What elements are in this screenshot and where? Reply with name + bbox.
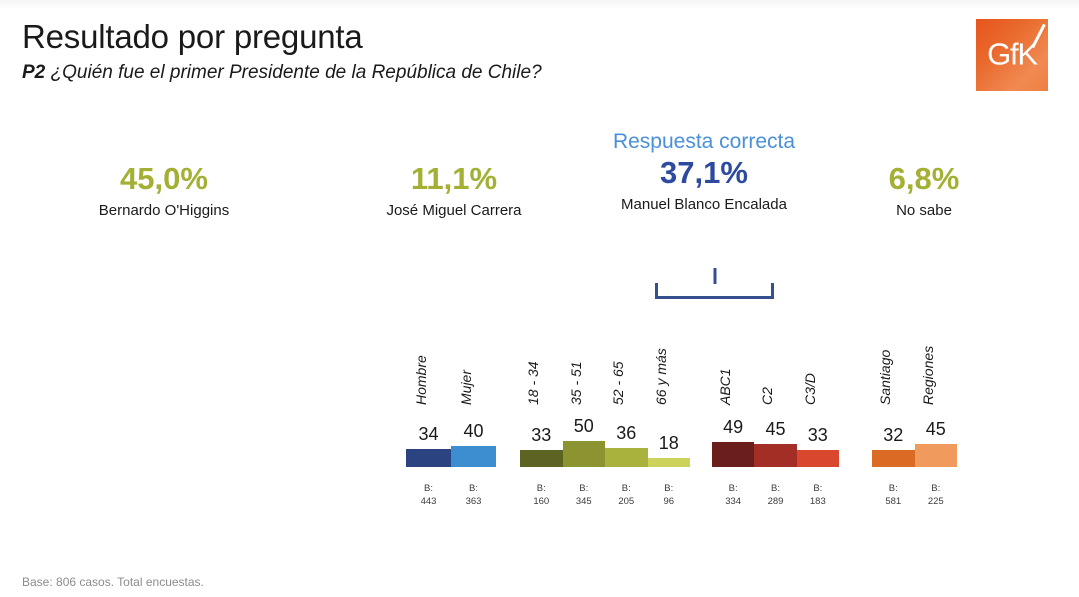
bar (605, 448, 648, 467)
bar-cell: 49 (712, 405, 754, 467)
bar-row: 494533 (712, 405, 839, 467)
base-prefix: B: (563, 483, 606, 496)
answer-item-3: 6,8% No sabe (844, 162, 1004, 219)
bar-value-label: 33 (520, 425, 563, 446)
answer-percent-0: 45,0% (44, 162, 284, 196)
bar (406, 449, 451, 467)
base-prefix: B: (648, 483, 691, 496)
question-text: ¿Quién fue el primer Presidente de la Re… (51, 62, 542, 83)
answer-label-0: Bernardo O'Higgins (44, 202, 284, 219)
category-label-row: SantiagoRegiones (872, 305, 957, 405)
base-row: B:443B:363 (406, 483, 496, 509)
base-row: B:581B:225 (872, 483, 957, 509)
bar-value-label: 49 (712, 417, 754, 438)
answer-label-1: José Miguel Carrera (334, 202, 574, 219)
category-label: Mujer (458, 370, 474, 405)
bar-value-label: 45 (754, 419, 796, 440)
bar-cell: 33 (520, 405, 563, 467)
base-cell: B:225 (915, 483, 958, 509)
bar (451, 446, 496, 467)
category-cell: C3/D (797, 305, 839, 405)
bar-value-label: 45 (915, 419, 958, 440)
base-cell: B:160 (520, 483, 563, 509)
bar (754, 444, 796, 467)
base-prefix: B: (605, 483, 648, 496)
category-label: C2 (759, 387, 775, 405)
bar-cell: 40 (451, 405, 496, 467)
answer-summary: 45,0% Bernardo O'Higgins 11,1% José Migu… (0, 130, 1079, 240)
base-value: 334 (712, 496, 754, 509)
category-label: Santiago (877, 350, 893, 405)
bar-value-label: 40 (451, 421, 496, 442)
category-cell: 66 y más (648, 305, 691, 405)
bar-value-label: 32 (872, 425, 915, 446)
base-cell: B:581 (872, 483, 915, 509)
chart-group-gse: ABC1C2C3/D494533B:334B:289B:183 (712, 305, 839, 535)
category-label-row: 18 - 3435 - 5152 - 6566 y más (520, 305, 690, 405)
bar-row: 3440 (406, 405, 496, 467)
base-cell: B:183 (797, 483, 839, 509)
correct-answer-tag: Respuesta correcta (584, 130, 824, 154)
bar-cell: 32 (872, 405, 915, 467)
answer-item-0: 45,0% Bernardo O'Higgins (44, 162, 284, 219)
bar-row: 3245 (872, 405, 957, 467)
bar (520, 450, 563, 467)
segment-bar-chart: HombreMujer3440B:443B:363 18 - 3435 - 51… (0, 305, 1079, 535)
base-value: 183 (797, 496, 839, 509)
bar (872, 450, 915, 467)
base-value: 205 (605, 496, 648, 509)
bar-value-label: 33 (797, 425, 839, 446)
base-prefix: B: (712, 483, 754, 496)
category-label: C3/D (802, 373, 818, 405)
chart-group-edad: 18 - 3435 - 5152 - 6566 y más33503618B:1… (520, 305, 690, 535)
bar-value-label: 36 (605, 423, 648, 444)
base-note: Base: 806 casos. Total encuestas. (22, 575, 204, 589)
answer-label-2: Manuel Blanco Encalada (584, 196, 824, 213)
answer-percent-2: 37,1% (584, 156, 824, 190)
category-label: Regiones (920, 346, 936, 405)
category-cell: C2 (754, 305, 796, 405)
category-label-row: ABC1C2C3/D (712, 305, 839, 405)
category-cell: 35 - 51 (563, 305, 606, 405)
slide-root: Resultado por pregunta P2 ¿Quién fue el … (0, 0, 1079, 597)
base-prefix: B: (451, 483, 496, 496)
category-label: 52 - 65 (610, 361, 626, 405)
base-cell: B:443 (406, 483, 451, 509)
category-cell: ABC1 (712, 305, 754, 405)
slide-header: Resultado por pregunta P2 ¿Quién fue el … (22, 18, 942, 84)
answer-item-1: 11,1% José Miguel Carrera (334, 162, 574, 219)
category-label: 35 - 51 (568, 361, 584, 405)
base-prefix: B: (915, 483, 958, 496)
base-prefix: B: (872, 483, 915, 496)
chart-group-zona: SantiagoRegiones3245B:581B:225 (872, 305, 957, 535)
base-value: 225 (915, 496, 958, 509)
bar (648, 458, 691, 467)
question-subtitle: P2 ¿Quién fue el primer Presidente de la… (22, 62, 942, 84)
logo-wordmark: GfK (976, 36, 1048, 72)
base-value: 345 (563, 496, 606, 509)
base-row: B:160B:345B:205B:96 (520, 483, 690, 509)
base-cell: B:289 (754, 483, 796, 509)
bar-value-label: 34 (406, 424, 451, 445)
base-value: 96 (648, 496, 691, 509)
category-label: 66 y más (653, 348, 669, 405)
category-cell: Hombre (406, 305, 451, 405)
bar-cell: 50 (563, 405, 606, 467)
gfk-logo: GfK (976, 19, 1048, 91)
bracket-tick-icon (713, 268, 716, 284)
page-title: Resultado por pregunta (22, 18, 942, 56)
category-label-row: HombreMujer (406, 305, 496, 405)
answer-item-2: Respuesta correcta 37,1% Manuel Blanco E… (584, 130, 824, 213)
bar-cell: 45 (915, 405, 958, 467)
base-prefix: B: (797, 483, 839, 496)
bar (712, 442, 754, 467)
bar (563, 441, 606, 467)
bar-value-label: 50 (563, 416, 606, 437)
answer-percent-3: 6,8% (844, 162, 1004, 196)
base-cell: B:96 (648, 483, 691, 509)
category-cell: 18 - 34 (520, 305, 563, 405)
correct-answer-bracket (655, 283, 774, 299)
bar-cell: 36 (605, 405, 648, 467)
base-row: B:334B:289B:183 (712, 483, 839, 509)
bar (915, 444, 958, 467)
category-cell: Santiago (872, 305, 915, 405)
bar-cell: 45 (754, 405, 796, 467)
base-cell: B:345 (563, 483, 606, 509)
base-prefix: B: (754, 483, 796, 496)
bar (797, 450, 839, 467)
base-value: 581 (872, 496, 915, 509)
category-cell: 52 - 65 (605, 305, 648, 405)
question-code: P2 (22, 62, 45, 83)
bar-cell: 34 (406, 405, 451, 467)
bar-cell: 33 (797, 405, 839, 467)
category-label: ABC1 (717, 368, 733, 405)
bar-cell: 18 (648, 405, 691, 467)
base-cell: B:363 (451, 483, 496, 509)
bar-value-label: 18 (648, 433, 691, 454)
base-prefix: B: (520, 483, 563, 496)
base-value: 289 (754, 496, 796, 509)
base-cell: B:205 (605, 483, 648, 509)
category-cell: Mujer (451, 305, 496, 405)
base-value: 363 (451, 496, 496, 509)
base-prefix: B: (406, 483, 451, 496)
category-cell: Regiones (915, 305, 958, 405)
category-label: 18 - 34 (525, 361, 541, 405)
base-cell: B:334 (712, 483, 754, 509)
base-value: 443 (406, 496, 451, 509)
chart-group-genero: HombreMujer3440B:443B:363 (406, 305, 496, 535)
base-value: 160 (520, 496, 563, 509)
bar-row: 33503618 (520, 405, 690, 467)
category-label: Hombre (413, 355, 429, 405)
answer-label-3: No sabe (844, 202, 1004, 219)
answer-percent-1: 11,1% (334, 162, 574, 196)
